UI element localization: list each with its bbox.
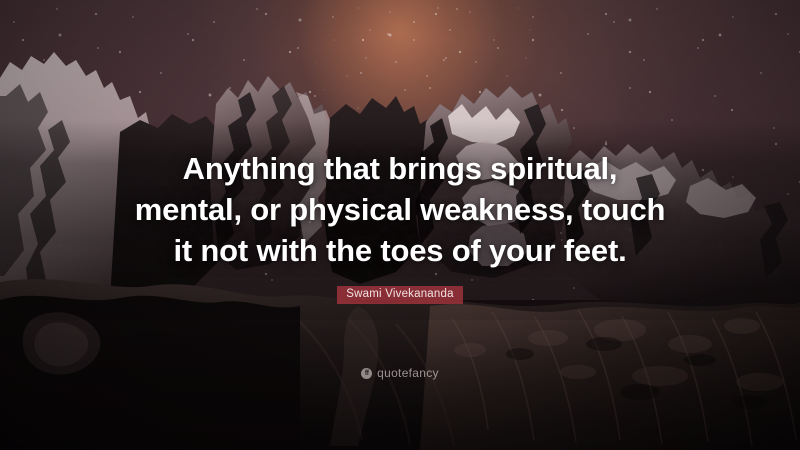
quote-line-1: Anything that brings spiritual, xyxy=(0,148,800,189)
quotefancy-watermark[interactable]: ff quotefancy xyxy=(0,367,800,379)
quotefancy-brand-label: quotefancy xyxy=(377,367,439,379)
quote-poster: Anything that brings spiritual, mental, … xyxy=(0,0,800,450)
quotefancy-logo-icon: ff xyxy=(361,368,372,379)
quote-line-3: it not with the toes of your feet. xyxy=(0,230,800,271)
quote-text-block: Anything that brings spiritual, mental, … xyxy=(0,148,800,271)
quote-line-2: mental, or physical weakness, touch xyxy=(0,189,800,230)
quotefancy-logo-glyph: ff xyxy=(365,370,369,377)
author-name: Swami Vivekananda xyxy=(337,286,462,304)
author-attribution-row: Swami Vivekananda xyxy=(0,284,800,304)
